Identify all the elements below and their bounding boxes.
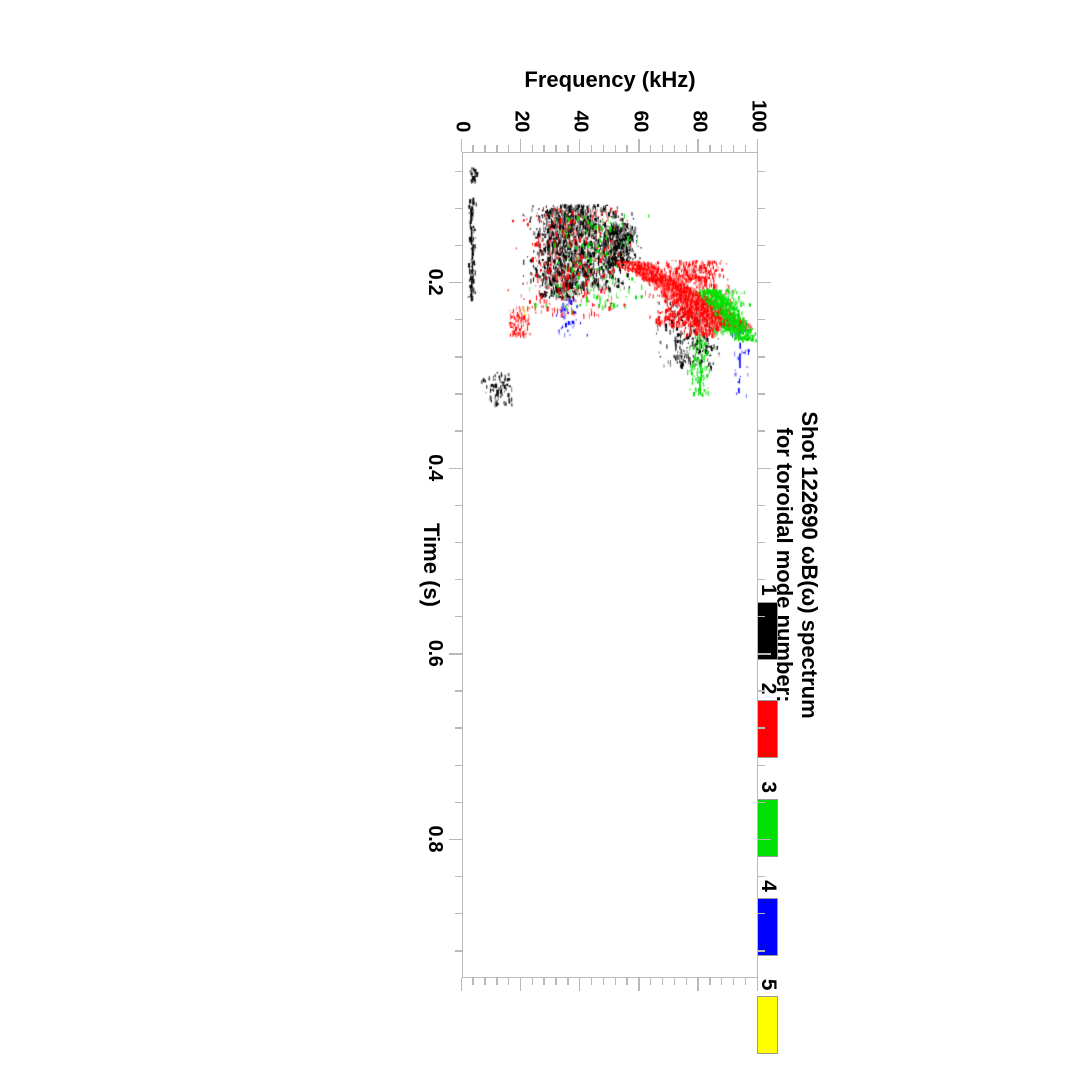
- legend-entry-3: 3: [756, 781, 780, 857]
- x-minor-tick: [455, 504, 462, 505]
- x-minor-tick-top: [758, 319, 765, 320]
- x-major-tick: [449, 467, 462, 468]
- x-minor-tick: [455, 319, 462, 320]
- y-minor-tick: [602, 145, 603, 152]
- x-major-tick: [449, 281, 462, 282]
- y-major-tick-right: [697, 978, 698, 991]
- y-minor-tick-right: [732, 978, 733, 985]
- y-minor-tick: [531, 145, 532, 152]
- y-tick-label: 80: [687, 110, 710, 131]
- y-minor-tick-right: [673, 978, 674, 985]
- plot-area: [462, 152, 758, 978]
- x-minor-tick: [455, 950, 462, 951]
- x-major-tick-top: [758, 653, 771, 654]
- y-minor-tick-right: [472, 978, 473, 985]
- y-tick-label: 40: [568, 110, 591, 131]
- y-minor-tick-right: [721, 978, 722, 985]
- x-major-tick-top: [758, 281, 771, 282]
- y-minor-tick-right: [685, 978, 686, 985]
- x-minor-tick-top: [758, 244, 765, 245]
- x-minor-tick: [455, 244, 462, 245]
- legend-label: 4: [756, 880, 780, 892]
- y-minor-tick: [472, 145, 473, 152]
- y-major-tick: [638, 139, 639, 152]
- x-minor-tick-top: [758, 764, 765, 765]
- x-minor-tick-top: [758, 504, 765, 505]
- y-minor-tick-right: [614, 978, 615, 985]
- y-minor-tick: [661, 145, 662, 152]
- x-minor-tick: [455, 913, 462, 914]
- x-axis-title: Time (s): [418, 523, 444, 607]
- x-minor-tick: [455, 207, 462, 208]
- legend-entry-5: 5: [756, 978, 780, 1054]
- x-tick-label: 0.6: [423, 639, 446, 666]
- x-tick-label: 0.2: [423, 268, 446, 295]
- y-minor-tick-right: [602, 978, 603, 985]
- legend-entry-2: 2: [756, 682, 780, 758]
- y-minor-tick-right: [590, 978, 591, 985]
- y-minor-tick: [496, 145, 497, 152]
- figure-stage: Shot 122690 ωB(ω) spectrum for toroidal …: [0, 0, 1071, 1071]
- spectrogram-canvas-layer: [463, 153, 757, 977]
- x-minor-tick-top: [758, 690, 765, 691]
- y-minor-tick: [614, 145, 615, 152]
- y-major-tick: [519, 139, 520, 152]
- x-minor-tick: [455, 170, 462, 171]
- y-minor-tick: [543, 145, 544, 152]
- y-minor-tick: [673, 145, 674, 152]
- y-minor-tick: [709, 145, 710, 152]
- y-major-tick-right: [756, 978, 757, 991]
- x-minor-tick-top: [758, 541, 765, 542]
- y-minor-tick-right: [709, 978, 710, 985]
- y-tick-label: 60: [628, 110, 651, 131]
- legend-entry-1: 1: [756, 584, 780, 660]
- plot-title-line-1: Shot 122690 ωB(ω) spectrum: [797, 411, 822, 718]
- x-minor-tick: [455, 541, 462, 542]
- legend-swatch-3: [757, 799, 778, 857]
- x-tick-label: 0.4: [423, 454, 446, 481]
- y-major-tick-right: [519, 978, 520, 991]
- x-minor-tick-top: [758, 430, 765, 431]
- y-axis-title: Frequency (kHz): [524, 67, 695, 93]
- x-major-tick: [449, 653, 462, 654]
- legend-swatch-5: [757, 996, 778, 1054]
- y-minor-tick: [744, 145, 745, 152]
- y-minor-tick-right: [484, 978, 485, 985]
- y-tick-label: 100: [746, 99, 769, 131]
- x-minor-tick-top: [758, 207, 765, 208]
- y-major-tick: [697, 139, 698, 152]
- legend-label: 2: [756, 682, 780, 694]
- legend-swatch-1: [757, 601, 778, 659]
- y-minor-tick: [721, 145, 722, 152]
- y-minor-tick-right: [650, 978, 651, 985]
- y-tick-label: 0: [450, 121, 473, 132]
- x-minor-tick: [455, 578, 462, 579]
- y-minor-tick: [484, 145, 485, 152]
- x-minor-tick: [455, 690, 462, 691]
- y-major-tick-right: [579, 978, 580, 991]
- x-minor-tick-top: [758, 875, 765, 876]
- legend-label: 3: [756, 781, 780, 793]
- x-minor-tick-top: [758, 913, 765, 914]
- y-minor-tick-right: [555, 978, 556, 985]
- x-minor-tick-top: [758, 356, 765, 357]
- x-minor-tick: [455, 430, 462, 431]
- x-major-tick-top: [758, 467, 771, 468]
- legend-swatch-2: [757, 700, 778, 758]
- y-minor-tick: [507, 145, 508, 152]
- y-minor-tick-right: [626, 978, 627, 985]
- x-minor-tick-top: [758, 170, 765, 171]
- y-major-tick-right: [638, 978, 639, 991]
- x-minor-tick-top: [758, 727, 765, 728]
- y-minor-tick-right: [531, 978, 532, 985]
- x-minor-tick: [455, 356, 462, 357]
- y-minor-tick-right: [744, 978, 745, 985]
- x-minor-tick: [455, 875, 462, 876]
- legend-label: 1: [756, 584, 780, 596]
- legend-label: 5: [756, 978, 780, 990]
- legend-swatch-4: [757, 897, 778, 955]
- spectrogram-figure: Shot 122690 ωB(ω) spectrum for toroidal …: [276, 86, 796, 986]
- y-minor-tick-right: [543, 978, 544, 985]
- legend-entry-4: 4: [756, 880, 780, 956]
- y-minor-tick: [626, 145, 627, 152]
- y-minor-tick: [685, 145, 686, 152]
- y-minor-tick-right: [661, 978, 662, 985]
- x-minor-tick-top: [758, 616, 765, 617]
- x-major-tick-top: [758, 838, 771, 839]
- y-minor-tick: [590, 145, 591, 152]
- x-minor-tick-top: [758, 578, 765, 579]
- x-minor-tick-top: [758, 950, 765, 951]
- x-minor-tick: [455, 616, 462, 617]
- y-major-tick: [460, 139, 461, 152]
- y-minor-tick-right: [507, 978, 508, 985]
- y-minor-tick-right: [567, 978, 568, 985]
- y-major-tick-right: [460, 978, 461, 991]
- y-minor-tick: [650, 145, 651, 152]
- x-minor-tick: [455, 801, 462, 802]
- y-tick-label: 20: [509, 110, 532, 131]
- y-minor-tick: [732, 145, 733, 152]
- y-minor-tick: [567, 145, 568, 152]
- y-major-tick: [579, 139, 580, 152]
- x-minor-tick-top: [758, 393, 765, 394]
- x-minor-tick-top: [758, 801, 765, 802]
- y-major-tick: [756, 139, 757, 152]
- mode-number-legend: 12345: [755, 584, 781, 978]
- x-minor-tick: [455, 764, 462, 765]
- x-minor-tick: [455, 727, 462, 728]
- y-minor-tick: [555, 145, 556, 152]
- x-tick-label: 0.8: [423, 825, 446, 852]
- x-major-tick: [449, 838, 462, 839]
- x-minor-tick: [455, 393, 462, 394]
- y-minor-tick-right: [496, 978, 497, 985]
- spectrogram-canvas: [462, 153, 757, 978]
